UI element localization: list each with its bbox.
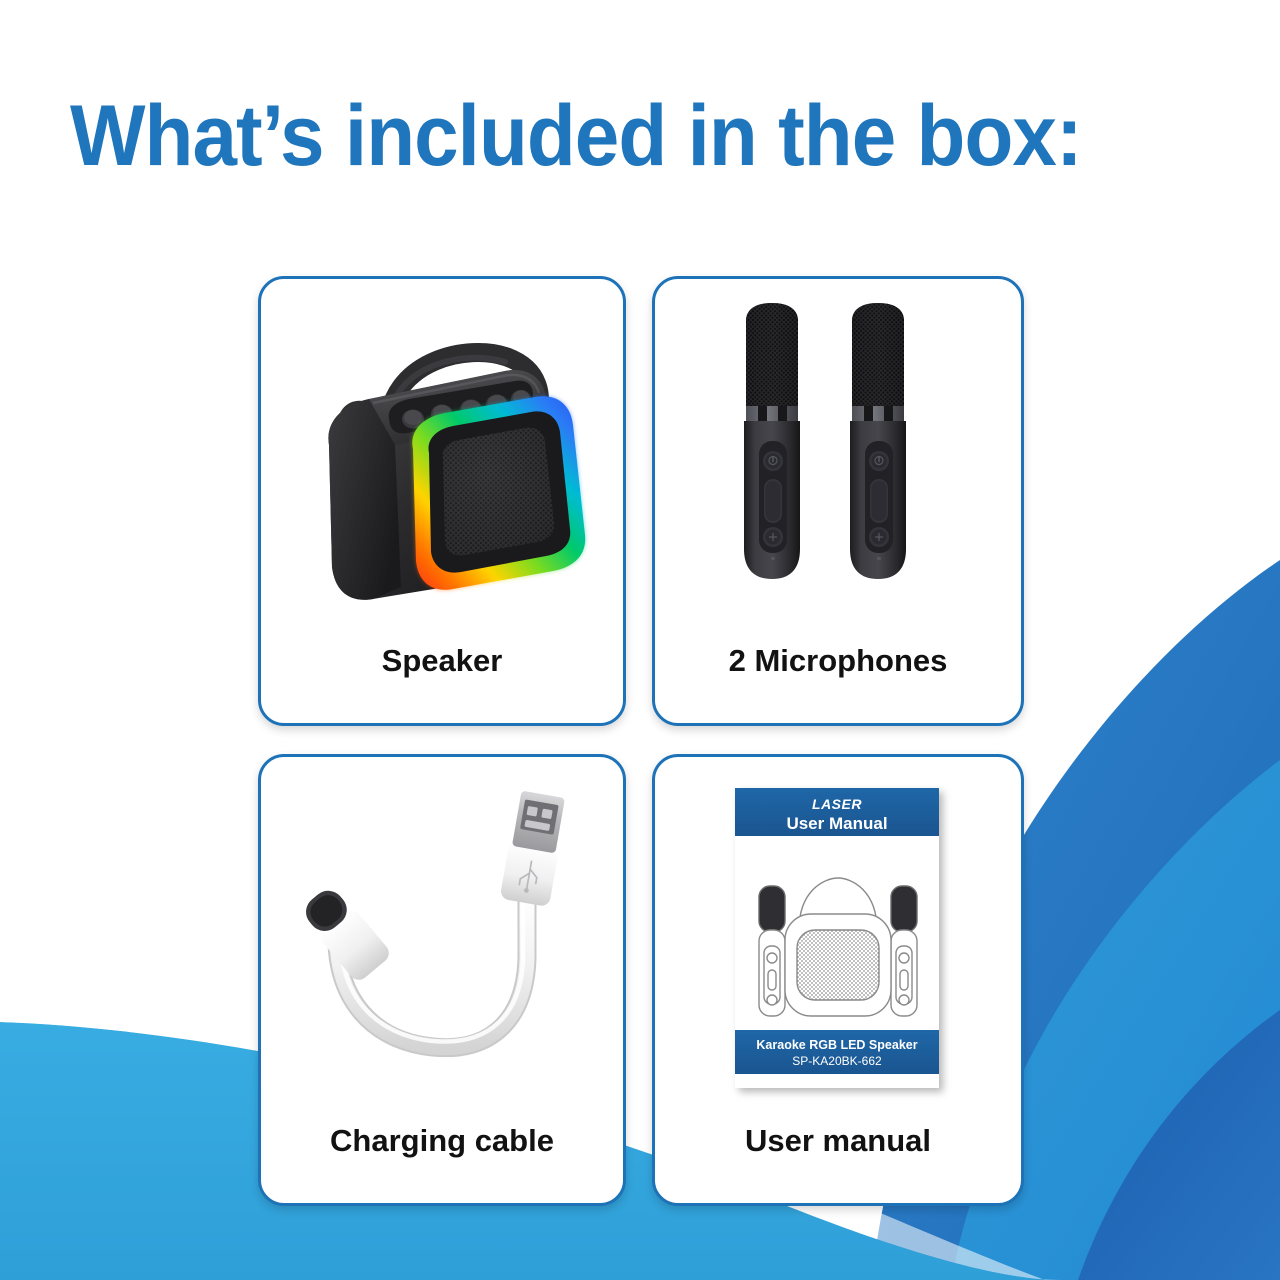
manual-header-title: User Manual (786, 814, 887, 833)
included-items-grid: Speaker (258, 276, 1024, 1206)
card-microphones[interactable]: 2 Microphones (652, 276, 1024, 726)
user-manual-image: LASER User Manual (655, 757, 1021, 1123)
card-speaker[interactable]: Speaker (258, 276, 626, 726)
usb-a-to-usb-c-cable-icon (277, 783, 607, 1103)
card-label-speaker: Speaker (382, 643, 503, 723)
user-manual-booklet-icon: LASER User Manual (723, 778, 953, 1108)
speaker-image (261, 279, 623, 643)
portable-rgb-speaker-icon (277, 299, 607, 629)
card-user-manual[interactable]: LASER User Manual (652, 754, 1024, 1206)
wireless-handheld-microphones-icon (688, 299, 988, 629)
card-label-user-manual: User manual (745, 1123, 931, 1203)
charging-cable-image (261, 757, 623, 1123)
card-label-charging-cable: Charging cable (330, 1123, 554, 1203)
card-charging-cable[interactable]: Charging cable (258, 754, 626, 1206)
manual-model-number: SP-KA20BK-662 (792, 1054, 882, 1068)
microphones-image (655, 279, 1021, 643)
manual-product-name: Karaoke RGB LED Speaker (756, 1038, 917, 1052)
card-label-microphones: 2 Microphones (729, 643, 948, 723)
manual-brand-logo: LASER (812, 796, 862, 812)
page-title: What’s included in the box: (70, 93, 1082, 179)
